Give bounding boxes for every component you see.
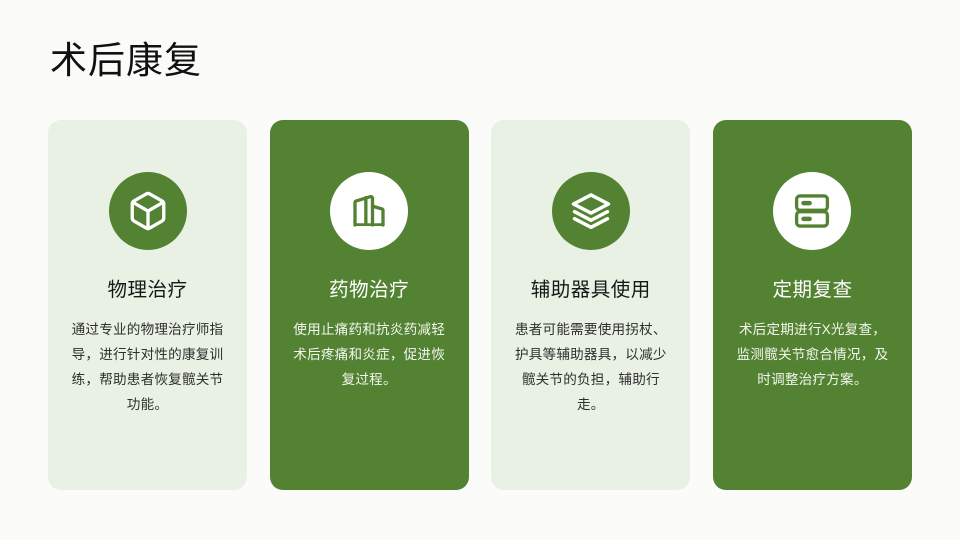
card-assistive-devices[interactable]: 辅助器具使用 患者可能需要使用拐杖、护具等辅助器具，以减少髋关节的负担，辅助行走…	[491, 120, 690, 490]
cube-icon	[127, 190, 169, 232]
card-medication[interactable]: 药物治疗 使用止痛药和抗炎药减轻术后疼痛和炎症，促进恢复过程。	[270, 120, 469, 490]
card-title: 药物治疗	[329, 278, 409, 302]
card-body: 术后定期进行X光复查，监测髋关节愈合情况，及时调整治疗方案。	[732, 317, 892, 392]
card-title: 定期复查	[772, 278, 852, 302]
page-title: 术后康复	[50, 38, 202, 86]
building-icon	[348, 190, 390, 232]
card-row: 物理治疗 通过专业的物理治疗师指导，进行针对性的康复训练，帮助患者恢复髋关节功能…	[48, 120, 912, 490]
card-title: 物理治疗	[107, 278, 187, 302]
icon-badge	[552, 172, 630, 250]
slide-canvas: 术后康复 物理治疗 通过专业的物理治疗师指导，进行针对性的康复训练，帮助患者恢复…	[0, 0, 960, 540]
server-icon	[791, 190, 833, 232]
icon-badge	[109, 172, 187, 250]
card-followup-exam[interactable]: 定期复查 术后定期进行X光复查，监测髋关节愈合情况，及时调整治疗方案。	[713, 120, 912, 490]
card-body: 通过专业的物理治疗师指导，进行针对性的康复训练，帮助患者恢复髋关节功能。	[68, 317, 228, 417]
layers-icon	[570, 190, 612, 232]
card-physical-therapy[interactable]: 物理治疗 通过专业的物理治疗师指导，进行针对性的康复训练，帮助患者恢复髋关节功能…	[48, 120, 247, 490]
icon-badge	[330, 172, 408, 250]
card-body: 患者可能需要使用拐杖、护具等辅助器具，以减少髋关节的负担，辅助行走。	[511, 317, 671, 417]
card-body: 使用止痛药和抗炎药减轻术后疼痛和炎症，促进恢复过程。	[289, 317, 449, 392]
icon-badge	[773, 172, 851, 250]
card-title: 辅助器具使用	[531, 278, 651, 302]
